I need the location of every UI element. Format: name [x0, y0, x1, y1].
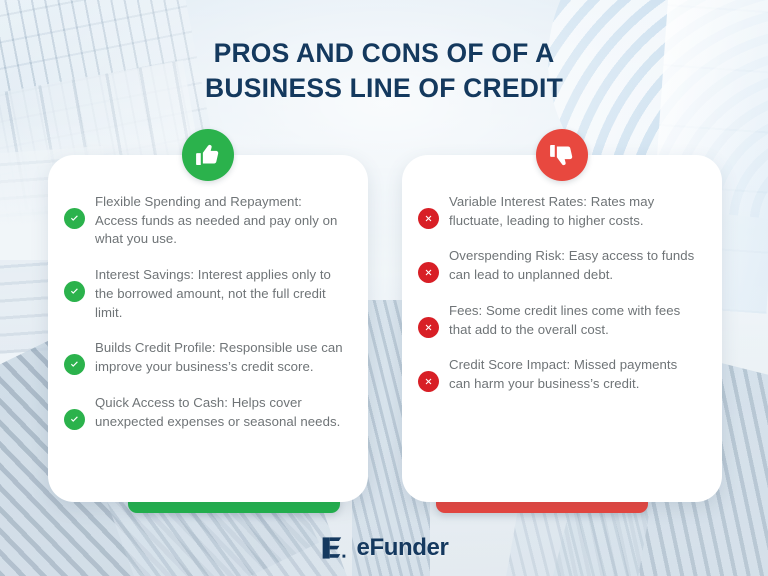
- list-item-text: Interest Savings: Interest applies only …: [95, 266, 346, 322]
- list-item-text: Flexible Spending and Repayment: Access …: [95, 193, 346, 249]
- cons-card: Variable Interest Rates: Rates may fluct…: [402, 155, 722, 502]
- list-item-text: Builds Credit Profile: Responsible use c…: [95, 339, 346, 376]
- infographic-root: PROS AND CONS OF OF A BUSINESS LINE OF C…: [0, 0, 768, 576]
- thumbs-up-icon: [182, 129, 234, 181]
- list-item: Interest Savings: Interest applies only …: [64, 266, 346, 322]
- list-item: Quick Access to Cash: Helps cover unexpe…: [64, 394, 346, 431]
- thumbs-down-icon: [536, 129, 588, 181]
- list-item: Overspending Risk: Easy access to funds …: [418, 247, 700, 284]
- list-item: Flexible Spending and Repayment: Access …: [64, 193, 346, 249]
- list-item: Variable Interest Rates: Rates may fluct…: [418, 193, 700, 230]
- x-circle-icon: [418, 317, 439, 338]
- list-item-text: Variable Interest Rates: Rates may fluct…: [449, 193, 700, 230]
- pros-list: Flexible Spending and Repayment: Access …: [64, 193, 346, 431]
- brand-logo: eFunder: [0, 534, 768, 562]
- cons-list: Variable Interest Rates: Rates may fluct…: [418, 193, 700, 394]
- list-item-text: Credit Score Impact: Missed payments can…: [449, 356, 700, 393]
- list-item-text: Quick Access to Cash: Helps cover unexpe…: [95, 394, 346, 431]
- list-item-text: Overspending Risk: Easy access to funds …: [449, 247, 700, 284]
- check-circle-icon: [64, 281, 85, 302]
- efunder-logo-icon: [320, 535, 350, 561]
- check-circle-icon: [64, 409, 85, 430]
- comparison-columns: Flexible Spending and Repayment: Access …: [0, 0, 768, 576]
- list-item-text: Fees: Some credit lines come with fees t…: [449, 302, 700, 339]
- x-circle-icon: [418, 262, 439, 283]
- list-item: Fees: Some credit lines come with fees t…: [418, 302, 700, 339]
- brand-logo-text: eFunder: [357, 534, 449, 562]
- list-item: Credit Score Impact: Missed payments can…: [418, 356, 700, 393]
- pros-card: Flexible Spending and Repayment: Access …: [48, 155, 368, 502]
- list-item: Builds Credit Profile: Responsible use c…: [64, 339, 346, 376]
- x-circle-icon: [418, 208, 439, 229]
- x-circle-icon: [418, 371, 439, 392]
- check-circle-icon: [64, 208, 85, 229]
- check-circle-icon: [64, 354, 85, 375]
